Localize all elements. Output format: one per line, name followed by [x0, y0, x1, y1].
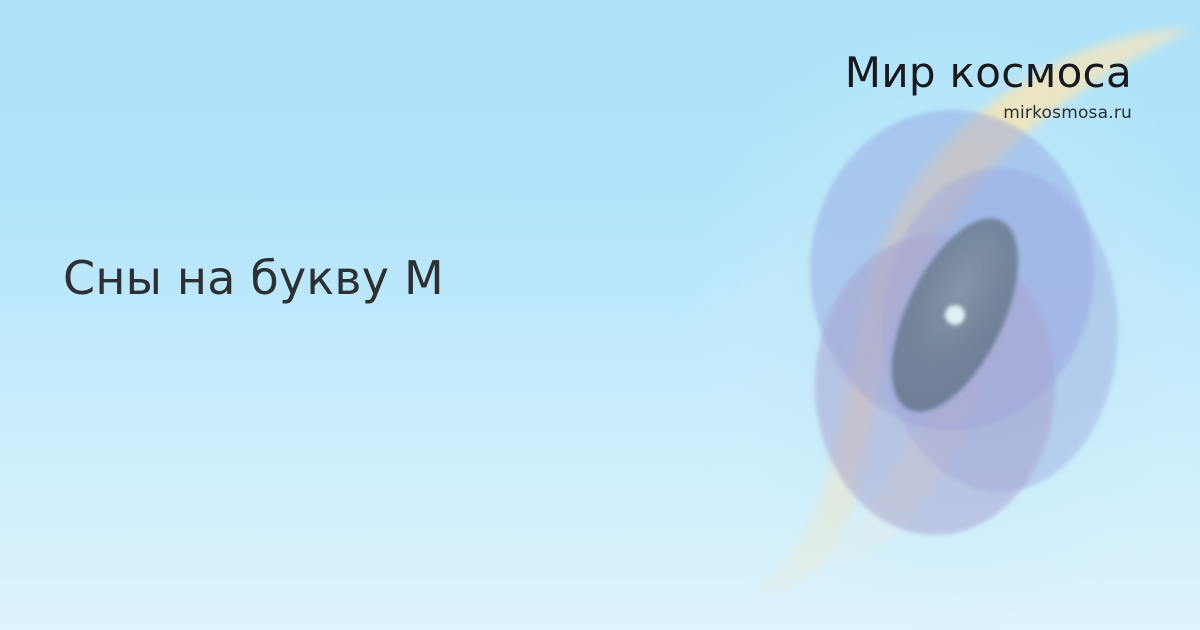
- nebula-ellipse-right: [882, 168, 1118, 492]
- nebula-ellipse-lower: [815, 235, 1055, 535]
- galaxy-center-dot: [945, 305, 965, 325]
- brand-name: Мир космоса: [845, 52, 1132, 94]
- brand-block[interactable]: Мир космоса mirkosmosa.ru: [845, 52, 1132, 123]
- nebula-swirl-tail: [754, 300, 1010, 592]
- galaxy-core-disc: [866, 200, 1044, 431]
- brand-url[interactable]: mirkosmosa.ru: [845, 103, 1132, 123]
- banner-root: Сны на букву М Мир космоса mirkosmosa.ru: [0, 0, 1200, 630]
- page-title: Сны на букву М: [63, 252, 444, 305]
- nebula-ellipse-upper: [810, 110, 1094, 430]
